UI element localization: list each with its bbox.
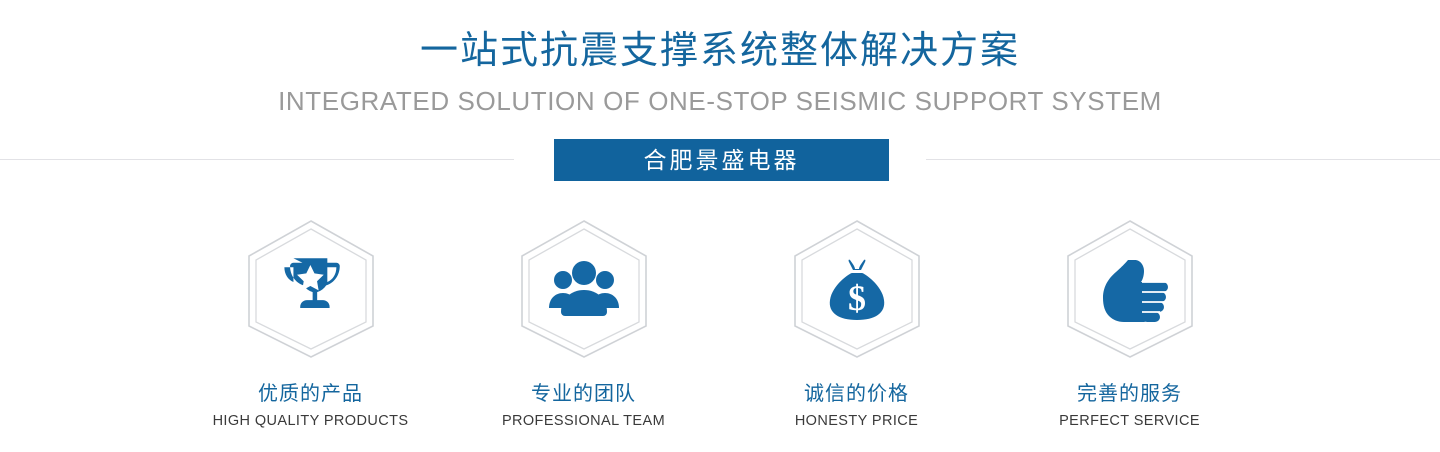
brand-name-label: 合肥景盛电器 — [644, 149, 800, 172]
feature-title-en: HIGH QUALITY PRODUCTS — [213, 411, 409, 431]
feature-title-en: PROFESSIONAL TEAM — [502, 411, 665, 431]
page-subtitle: INTEGRATED SOLUTION OF ONE-STOP SEISMIC … — [0, 85, 1440, 117]
thumbs-up-icon — [1063, 218, 1197, 360]
feature-title-cn: 完善的服务 — [1077, 381, 1182, 407]
money-bag-icon: $ — [790, 218, 924, 360]
divider-right — [926, 159, 1440, 160]
hexagon-frame — [1063, 218, 1197, 360]
feature-title-en: HONESTY PRICE — [795, 411, 918, 431]
feature-title-en: PERFECT SERVICE — [1059, 411, 1200, 431]
svg-text:$: $ — [848, 278, 866, 318]
feature-item-honesty-price[interactable]: $ 诚信的价格 HONESTY PRICE — [720, 218, 993, 431]
feature-title-cn: 诚信的价格 — [804, 381, 909, 407]
feature-list: 优质的产品 HIGH QUALITY PRODUCTS — [0, 218, 1440, 431]
feature-title-cn: 优质的产品 — [258, 381, 363, 407]
brand-divider-row: 合肥景盛电器 — [0, 139, 1440, 181]
page-title: 一站式抗震支撑系统整体解决方案 — [0, 28, 1440, 74]
team-people-icon — [517, 218, 651, 360]
divider-left — [0, 159, 514, 160]
hexagon-frame: $ — [790, 218, 924, 360]
headline-block: 一站式抗震支撑系统整体解决方案 INTEGRATED SOLUTION OF O… — [0, 28, 1440, 117]
promo-banner: 一站式抗震支撑系统整体解决方案 INTEGRATED SOLUTION OF O… — [0, 0, 1440, 452]
hexagon-frame — [517, 218, 651, 360]
feature-item-professional-team[interactable]: 专业的团队 PROFESSIONAL TEAM — [447, 218, 720, 431]
hexagon-frame — [244, 218, 378, 360]
feature-item-high-quality-products[interactable]: 优质的产品 HIGH QUALITY PRODUCTS — [174, 218, 447, 431]
trophy-icon — [244, 218, 378, 360]
brand-plate: 合肥景盛电器 — [554, 139, 889, 181]
feature-item-perfect-service[interactable]: 完善的服务 PERFECT SERVICE — [993, 218, 1266, 431]
feature-title-cn: 专业的团队 — [531, 381, 636, 407]
